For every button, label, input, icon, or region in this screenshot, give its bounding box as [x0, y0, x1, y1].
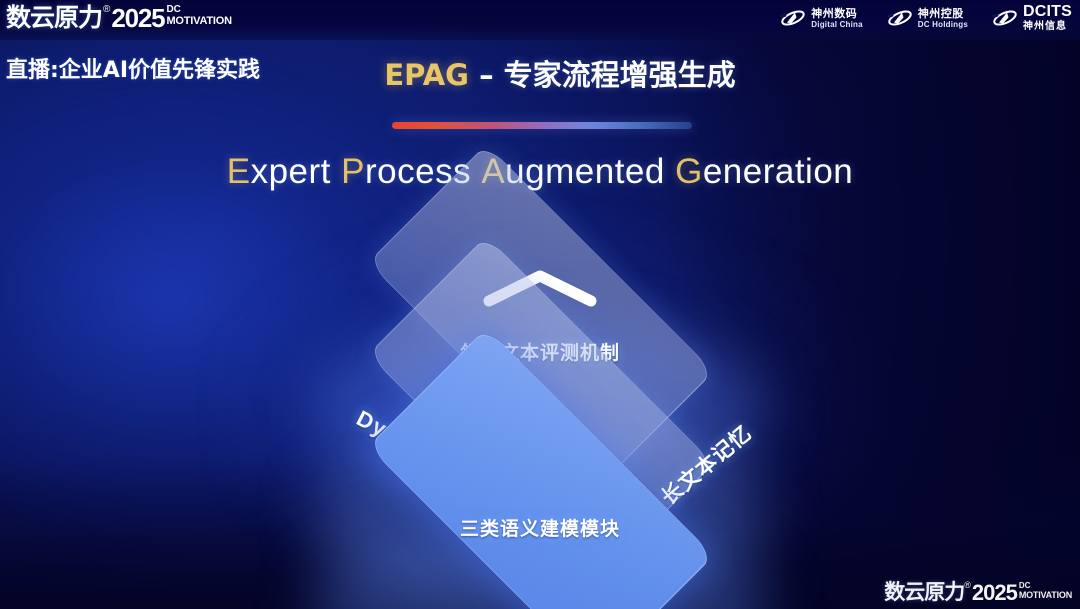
- subtitle-space-1: [331, 152, 341, 191]
- presentation-slide: 数云原力 ® 2025 DC MOTIVATION 直播:企业AI价值先锋实践 …: [0, 0, 1080, 609]
- watermark-motivation: MOTIVATION: [1019, 590, 1072, 600]
- brand-logo-motivation: MOTIVATION: [166, 15, 231, 27]
- watermark-registered-mark: ®: [964, 580, 971, 591]
- brand-logo: 数云原力 ® 2025 DC MOTIVATION: [6, 3, 232, 33]
- swoosh-logo-icon: [992, 7, 1018, 29]
- slide-subtitle-english: Expert Process Augmented Generation: [0, 152, 1080, 192]
- brand-logo-chinese: 数云原力: [6, 3, 102, 33]
- swoosh-logo-icon: [887, 7, 913, 29]
- watermark-dc: DC: [1019, 582, 1072, 590]
- partner-logo-dcits: DCITS 神州信息: [992, 4, 1072, 32]
- partner-cn-digital-china: 神州数码: [811, 8, 863, 19]
- slide-title-acronym: EPAG: [384, 58, 469, 92]
- partner-cn-dc-holdings: 神州控股: [918, 8, 968, 19]
- brand-logo-dc: DC: [166, 5, 231, 15]
- subtitle-initial-p: P: [341, 152, 365, 191]
- subtitle-rest-augmented: ugmented: [505, 152, 665, 191]
- subtitle-rest-expert: xpert: [251, 152, 331, 191]
- swoosh-logo-icon: [780, 7, 806, 29]
- subtitle-rest-generation: eneration: [703, 152, 853, 191]
- slide-title-chinese: 专家流程增强生成: [504, 58, 736, 92]
- subtitle-initial-g: G: [675, 152, 703, 191]
- partner-logo-dc-holdings: 神州控股 DC Holdings: [887, 7, 968, 29]
- partner-en-dcits: DCITS: [1023, 4, 1072, 20]
- partner-en-digital-china: Digital China: [811, 21, 863, 29]
- partner-logo-group: 神州数码 Digital China 神州控股 DC Holdings: [780, 4, 1072, 32]
- brand-logo-dc-motivation: DC MOTIVATION: [166, 5, 231, 27]
- subtitle-space-3: [665, 152, 675, 191]
- watermark-dc-motivation: DC MOTIVATION: [1019, 582, 1072, 600]
- layered-architecture-diagram: 领域文本评测机制 Dynamic MOE 长文本记忆 三类语义建模模块: [290, 228, 790, 578]
- partner-logo-digital-china: 神州数码 Digital China: [780, 7, 863, 29]
- partner-en-dc-holdings: DC Holdings: [918, 21, 968, 29]
- partner-label-dc-holdings: 神州控股 DC Holdings: [918, 8, 968, 29]
- slide-title-separator: –: [469, 58, 504, 92]
- brand-logo-year: 2025: [111, 3, 164, 33]
- watermark-year: 2025: [972, 580, 1017, 605]
- footer-watermark-logo: 数云原力 ® 2025 DC MOTIVATION: [884, 580, 1072, 605]
- partner-label-digital-china: 神州数码 Digital China: [811, 8, 863, 29]
- watermark-chinese: 数云原力: [884, 580, 964, 605]
- title-divider-bar: [392, 122, 692, 129]
- partner-cn-dcits: 神州信息: [1023, 22, 1072, 32]
- diagram-layer-bottom-label: 三类语义建模模块: [451, 514, 629, 541]
- brand-logo-registered-mark: ®: [103, 3, 110, 16]
- partner-label-dcits: DCITS 神州信息: [1023, 4, 1072, 32]
- slide-title: EPAG – 专家流程增强生成: [0, 52, 1080, 94]
- subtitle-initial-e: E: [227, 152, 251, 191]
